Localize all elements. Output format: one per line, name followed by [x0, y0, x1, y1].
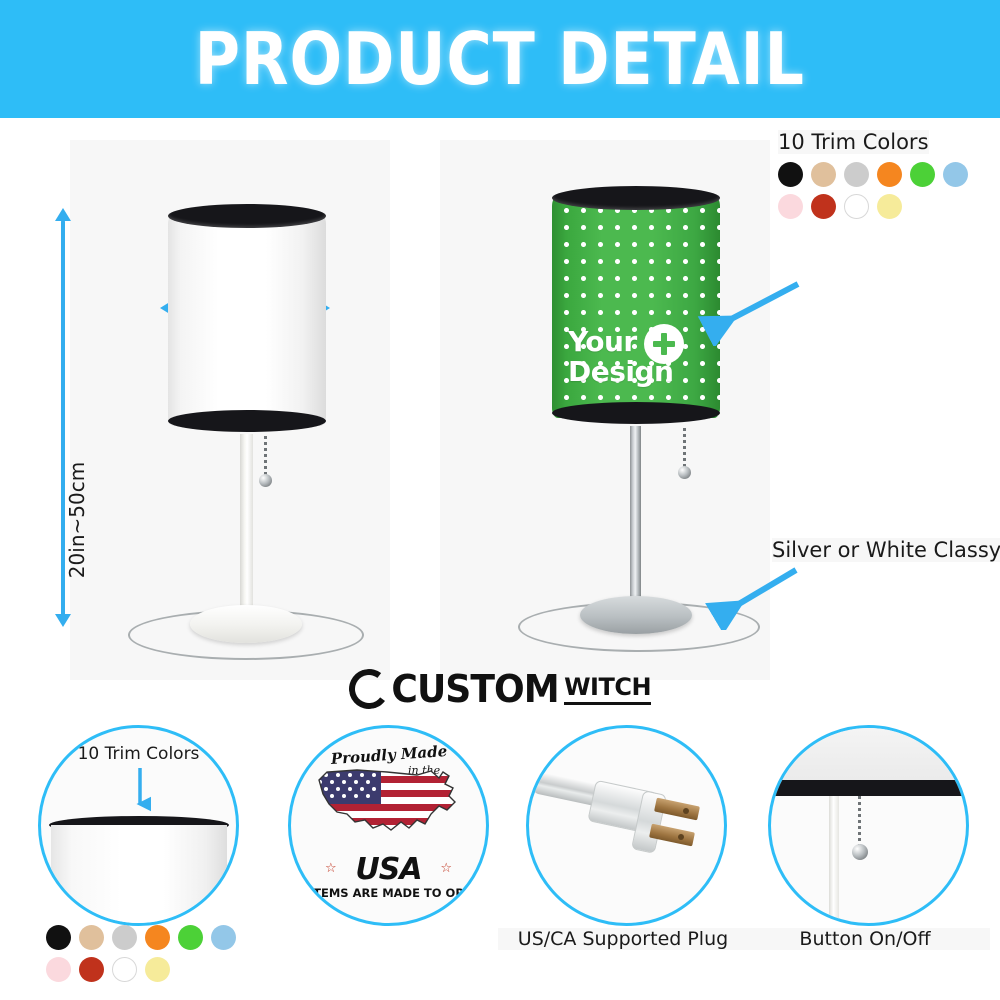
- brand-name-secondary-wrap: WITCH: [564, 675, 651, 705]
- base-finish-callout-arrow: [700, 560, 810, 630]
- usa-flag-map-icon: [313, 762, 465, 844]
- feature-circle-made-in-usa: Proudly Made in the: [288, 725, 489, 926]
- plug-prong-hole-lower: [678, 834, 684, 840]
- trim-colors-callout-label: 10 Trim Colors: [778, 130, 929, 154]
- pull-chain-white[interactable]: [264, 436, 267, 478]
- button-closeup-trim: [771, 780, 966, 796]
- brand-name-primary: CUSTOM: [391, 667, 558, 711]
- button-closeup-bead[interactable]: [852, 844, 868, 860]
- usa-word: USA: [355, 852, 421, 887]
- feature-circle-trim-colors: 10 Trim Colors: [38, 725, 239, 926]
- button-closeup-pole: [829, 796, 839, 923]
- trim-colors-inner-label: 10 Trim Colors: [78, 744, 200, 764]
- trim-swatch-white[interactable]: [112, 957, 137, 982]
- trim-swatch-pink[interactable]: [778, 194, 803, 219]
- usa-subtext: ALL ITEMS ARE MADE TO ORDER!: [288, 886, 489, 900]
- lamp-pole-silver: [630, 426, 641, 616]
- feature-caption-button: Button On/Off: [740, 928, 990, 950]
- lamp-pole-white: [240, 434, 253, 624]
- feature-caption-plug: US/CA Supported Plug: [498, 928, 748, 950]
- lamp-base-white: [190, 605, 302, 643]
- usa-star-right: ☆: [440, 861, 452, 876]
- feature-button: Button On/Off: [740, 720, 990, 1000]
- brand-underline: [564, 702, 651, 705]
- trim-colors-callout-arrow: [692, 276, 812, 346]
- trim-swatch-orange[interactable]: [145, 925, 170, 950]
- brand-name-secondary: WITCH: [564, 675, 651, 699]
- button-closeup: [771, 728, 966, 923]
- plug-prong-hole-upper: [683, 808, 689, 814]
- trim-swatch-tan[interactable]: [79, 925, 104, 950]
- trim-colors-swatches-bottom: [46, 925, 251, 989]
- trim-swatch-orange[interactable]: [877, 162, 902, 187]
- trim-swatch-light-blue[interactable]: [211, 925, 236, 950]
- feature-trim-colors: 10 Trim Colors: [10, 720, 260, 1000]
- c-logo-icon: [346, 666, 391, 711]
- pull-chain-bead-silver[interactable]: [678, 466, 691, 479]
- plug-icon: [529, 728, 724, 923]
- design-text-line2: Design: [568, 358, 673, 387]
- trim-swatch-white[interactable]: [844, 194, 869, 219]
- trim-swatch-black[interactable]: [46, 925, 71, 950]
- trim-swatch-red[interactable]: [811, 194, 836, 219]
- feature-plug: US/CA Supported Plug: [498, 720, 748, 1000]
- trim-colors-swatches-top: [778, 162, 1000, 226]
- lampshade-trim-bottom: [168, 410, 326, 432]
- design-text-line1: Your: [568, 328, 637, 357]
- lampshade-trim-top: [168, 204, 326, 228]
- lampshade-trim-bottom-green: [552, 402, 720, 424]
- feature-made-in-usa: Proudly Made in the: [260, 720, 510, 1000]
- trim-colors-inner-arrow: [129, 766, 151, 814]
- product-showcase: 7in~18cm 20in~50cm Your: [0, 118, 1000, 718]
- lamp-base-silver: [580, 596, 692, 634]
- pull-chain-silver[interactable]: [683, 428, 686, 470]
- lamp-white: [0, 118, 400, 678]
- trim-swatch-yellow[interactable]: [877, 194, 902, 219]
- page-title: PRODUCT DETAIL: [195, 23, 805, 95]
- trim-swatch-gray[interactable]: [112, 925, 137, 950]
- base-finish-callout-label: Silver or White Classy: [772, 538, 1000, 562]
- lampshade-white: [168, 204, 326, 434]
- button-closeup-chain[interactable]: [858, 796, 861, 848]
- usa-badge: Proudly Made in the: [291, 728, 486, 923]
- lampshade-trim-top-green: [552, 186, 720, 210]
- trim-swatch-gray[interactable]: [844, 162, 869, 187]
- trim-swatch-light-blue[interactable]: [943, 162, 968, 187]
- usa-star-left: ☆: [325, 861, 337, 876]
- trim-closeup-shade: [51, 825, 227, 926]
- trim-swatch-yellow[interactable]: [145, 957, 170, 982]
- trim-swatch-black[interactable]: [778, 162, 803, 187]
- trim-swatch-pink[interactable]: [46, 957, 71, 982]
- header-banner: PRODUCT DETAIL: [0, 0, 1000, 118]
- pull-chain-bead-white[interactable]: [259, 474, 272, 487]
- trim-swatch-red[interactable]: [79, 957, 104, 982]
- feature-circle-plug: [526, 725, 727, 926]
- feature-circle-button: [768, 725, 969, 926]
- trim-swatch-tan[interactable]: [811, 162, 836, 187]
- trim-swatch-green[interactable]: [178, 925, 203, 950]
- feature-row: 10 Trim Colors Proudly Made in the: [0, 720, 1000, 1000]
- trim-swatch-green[interactable]: [910, 162, 935, 187]
- brand-logo: CUSTOM WITCH: [0, 660, 1000, 718]
- lampshade-surface: [168, 214, 326, 426]
